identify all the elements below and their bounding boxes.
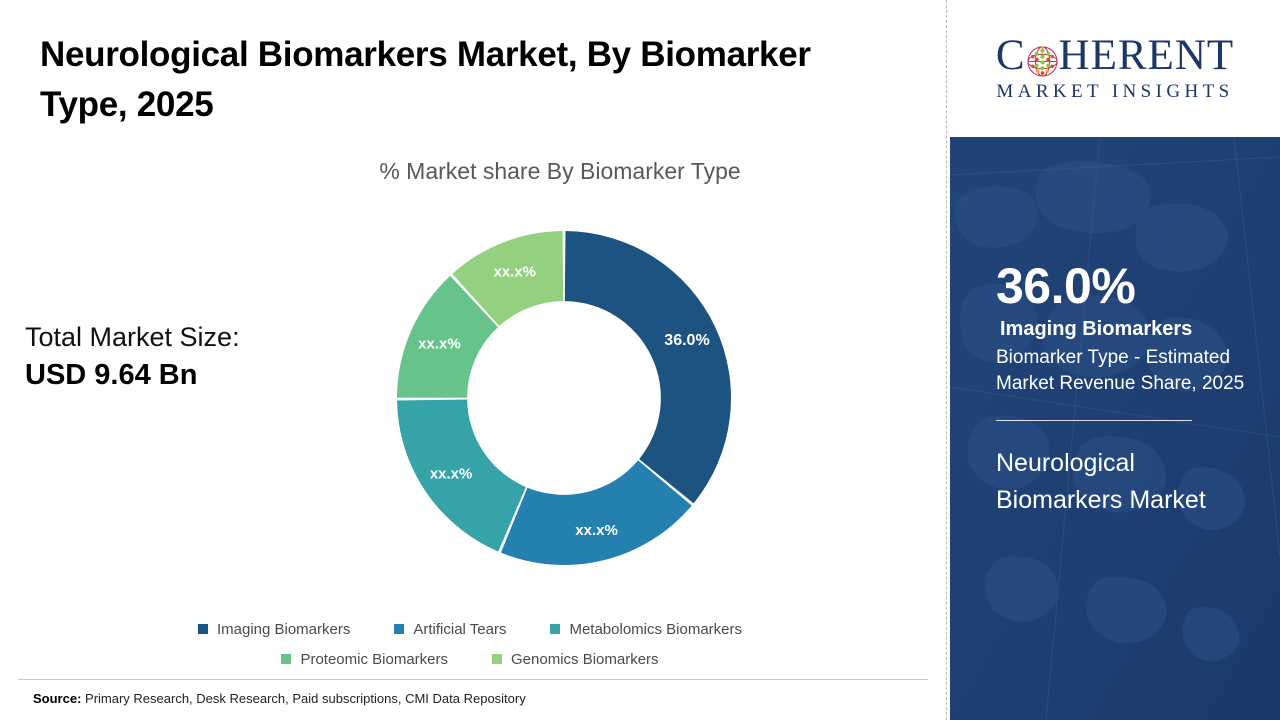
source-divider <box>18 679 928 680</box>
legend-item[interactable]: Imaging Biomarkers <box>198 621 350 638</box>
legend-swatch <box>492 654 502 664</box>
legend-item[interactable]: Proteomic Biomarkers <box>281 651 448 668</box>
donut-slice-label: xx.x% <box>430 466 473 483</box>
stat-description: Biomarker Type - Estimated Market Revenu… <box>996 345 1266 399</box>
legend-swatch <box>550 624 560 634</box>
legend-label: Genomics Biomarkers <box>511 651 659 668</box>
chart-panel: Neurological Biomarkers Market, By Bioma… <box>0 0 940 720</box>
donut-chart-svg: 36.0%xx.x%xx.x%xx.x%xx.x% <box>388 222 740 574</box>
sidebar-panel: C <box>950 0 1280 720</box>
sidebar-stat-block: 36.0% Imaging Biomarkers Biomarker Type … <box>996 260 1266 519</box>
legend-item[interactable]: Genomics Biomarkers <box>492 651 659 668</box>
market-name: Neurological Biomarkers Market <box>996 445 1266 519</box>
brand-logo: C <box>950 0 1280 137</box>
globe-icon <box>1027 42 1058 73</box>
donut-chart: 36.0%xx.x%xx.x%xx.x%xx.x% <box>388 222 740 574</box>
sidebar-info-area: 36.0% Imaging Biomarkers Biomarker Type … <box>950 137 1280 720</box>
panel-divider <box>946 0 947 720</box>
legend-item[interactable]: Metabolomics Biomarkers <box>550 621 742 638</box>
chart-page: Neurological Biomarkers Market, By Bioma… <box>0 0 1280 720</box>
legend-row-1: Imaging BiomarkersArtificial TearsMetabo… <box>0 614 940 644</box>
donut-slice[interactable] <box>565 231 731 503</box>
chart-legend: Imaging BiomarkersArtificial TearsMetabo… <box>0 614 940 674</box>
donut-slice-label: xx.x% <box>575 522 618 539</box>
legend-swatch <box>394 624 404 634</box>
legend-label: Metabolomics Biomarkers <box>569 621 742 638</box>
donut-slice-label: 36.0% <box>664 332 709 349</box>
source-label: Source: <box>33 691 81 706</box>
brand-tagline: MARKET INSIGHTS <box>996 81 1233 103</box>
total-market-size-label: Total Market Size: <box>25 320 240 356</box>
legend-row-2: Proteomic BiomarkersGenomics Biomarkers <box>0 644 940 674</box>
brand-wordmark: C <box>996 34 1234 77</box>
legend-label: Proteomic Biomarkers <box>300 651 448 668</box>
brand-name-part1: C <box>996 34 1026 77</box>
total-market-size-block: Total Market Size: USD 9.64 Bn <box>25 320 240 394</box>
legend-swatch <box>198 624 208 634</box>
stat-segment-name: Imaging Biomarkers <box>996 316 1266 343</box>
legend-label: Artificial Tears <box>413 621 506 638</box>
legend-item[interactable]: Artificial Tears <box>394 621 506 638</box>
legend-swatch <box>281 654 291 664</box>
brand-name-part2: HERENT <box>1059 34 1235 77</box>
stat-percent: 36.0% <box>996 260 1266 313</box>
donut-slice-label: xx.x% <box>418 336 461 353</box>
donut-slice-group <box>397 231 731 565</box>
source-line: Source: Primary Research, Desk Research,… <box>33 691 526 706</box>
sidebar-divider <box>996 420 1192 421</box>
donut-slice-label: xx.x% <box>493 263 536 280</box>
legend-label: Imaging Biomarkers <box>217 621 350 638</box>
page-title: Neurological Biomarkers Market, By Bioma… <box>40 30 900 129</box>
source-text: Primary Research, Desk Research, Paid su… <box>81 691 525 706</box>
total-market-size-value: USD 9.64 Bn <box>25 356 240 395</box>
